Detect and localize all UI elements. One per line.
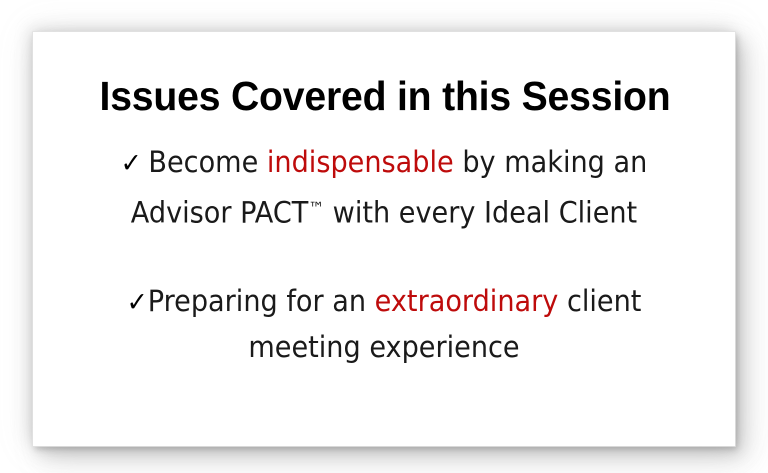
bullet-line: meeting experience [73,325,696,369]
bullet-line: Advisor PACT™ with every Ideal Client [73,186,696,235]
page-title: Issues Covered in this Session [72,73,698,119]
trademark-symbol: ™ [308,198,324,218]
bullet-line: ✓Preparing for an extraordinary client [73,279,696,325]
checkmark-icon: ✓ [127,287,148,318]
slide-stage: Issues Covered in this Session ✓Become i… [0,0,768,473]
bullet-text-segment: meeting experience [248,330,519,364]
bullet-text-segment: Preparing for an [148,284,375,318]
bullet-text-segment: by making an [454,145,648,179]
checkmark-icon: ✓ [121,148,149,179]
bullet-text-segment: Advisor PACT [131,196,309,230]
list-item: ✓Become indispensable by making an Advis… [73,140,696,235]
bullet-text-segment: with every Ideal Client [324,196,637,230]
bullet-text-segment: Become [148,145,266,179]
bullet-text-segment: client [558,284,641,318]
bullet-list: ✓Become indispensable by making an Advis… [51,140,717,369]
slide-card: Issues Covered in this Session ✓Become i… [33,32,735,446]
bullet-text-highlight: indispensable [267,145,454,179]
bullet-line: ✓Become indispensable by making an [73,140,696,186]
list-item: ✓Preparing for an extraordinary client m… [73,279,696,369]
bullet-text-highlight: extraordinary [375,284,559,318]
